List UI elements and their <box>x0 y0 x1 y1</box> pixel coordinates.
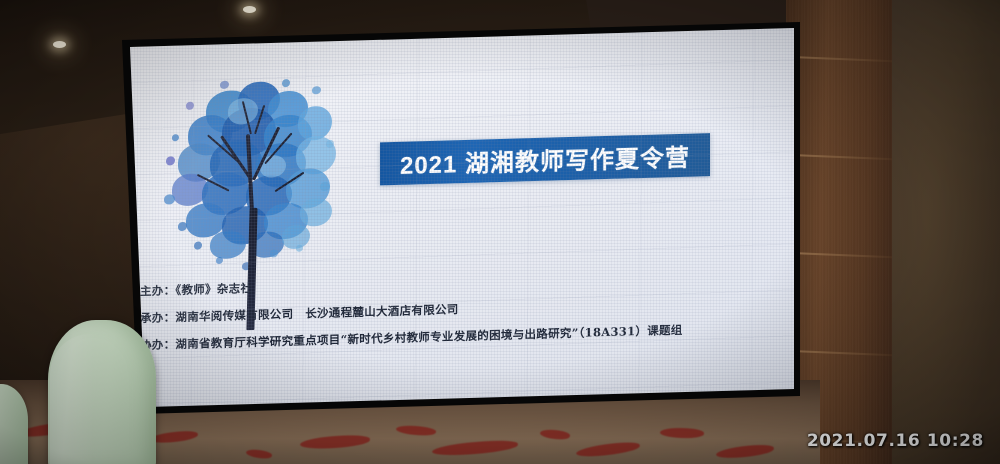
chair-primary <box>48 320 156 464</box>
presentation-slide: 2021 湖湘教师写作夏令营 主办：《教师》杂志社 承办：湖南华阅传媒有限公司 … <box>112 22 802 422</box>
right-wall <box>880 0 1000 464</box>
led-screen: 2021 湖湘教师写作夏令营 主办：《教师》杂志社 承办：湖南华阅传媒有限公司 … <box>112 22 802 422</box>
slide-credits: 主办：《教师》杂志社 承办：湖南华阅传媒有限公司 长沙通程麓山大酒店有限公司 协… <box>140 265 780 364</box>
camera-timestamp: 2021.07.16 10:28 <box>807 431 984 451</box>
ceiling-spotlight <box>243 6 256 13</box>
photo-scene: 2021 湖湘教师写作夏令营 主办：《教师》杂志社 承办：湖南华阅传媒有限公司 … <box>0 0 1000 464</box>
slide-title-banner: 2021 湖湘教师写作夏令营 <box>380 133 710 185</box>
ceiling-spotlight <box>53 41 66 48</box>
credit-line-cohost: 协办：湖南省教育厅科学研究重点项目“新时代乡村教师专业发展的困境与出路研究”（1… <box>140 319 780 353</box>
screen-surface: 2021 湖湘教师写作夏令营 主办：《教师》杂志社 承办：湖南华阅传媒有限公司 … <box>112 22 802 422</box>
slide-title-text: 2021 湖湘教师写作夏令营 <box>400 138 690 181</box>
